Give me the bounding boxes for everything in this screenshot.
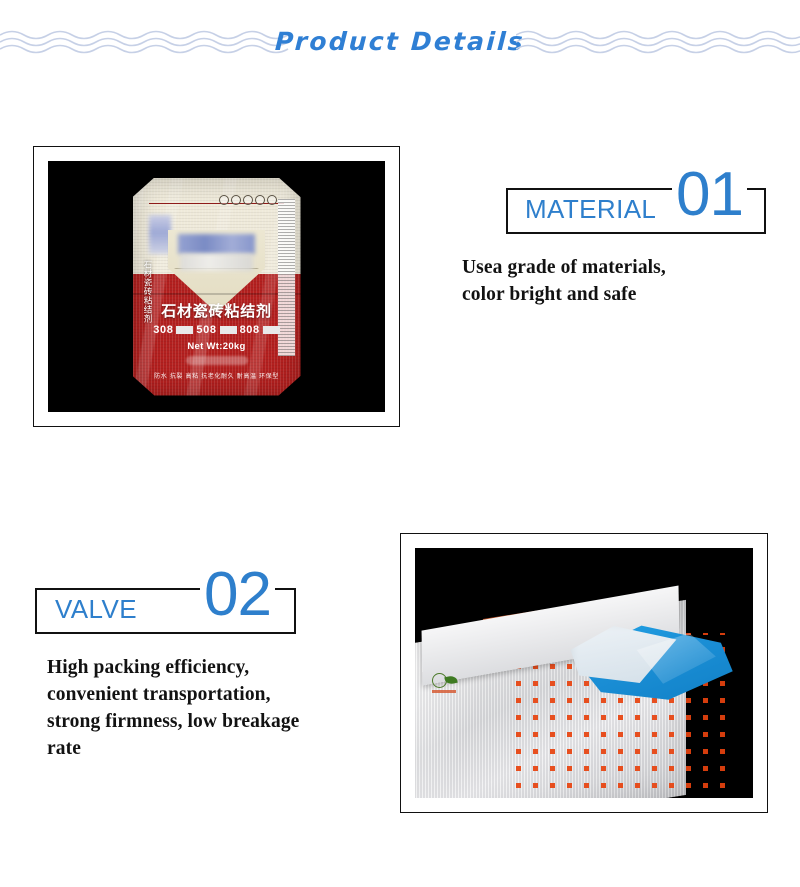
section-number-01: 01	[672, 164, 747, 226]
cert-icon-5	[267, 195, 277, 205]
section-label-material: MATERIAL	[525, 194, 656, 225]
bag-blurred-brand-text	[178, 234, 255, 254]
bag-feature-text: 防水 抗裂 高粘 抗老化耐久 耐高温 环保型	[133, 371, 301, 380]
bag-code-redaction-3	[263, 326, 280, 334]
section-description-material: Usea grade of materials, color bright an…	[462, 254, 782, 308]
bag-net-weight: Net Wt:20kg	[133, 341, 301, 352]
bag-code-808: 808	[240, 324, 260, 336]
product-photo-frame-valve	[400, 533, 768, 813]
logo-underline	[432, 690, 456, 693]
bag-front-label: 石材瓷砖粘结剂 308 508 808 Net Wt:20kg 防水 抗裂 高粘…	[133, 300, 301, 380]
product-photo-material: 石材瓷砖粘结剂 石材瓷砖粘结剂 308 508 808 Net Wt:20kg …	[48, 161, 385, 412]
product-photo-frame-material: 石材瓷砖粘结剂 石材瓷砖粘结剂 308 508 808 Net Wt:20kg …	[33, 146, 400, 427]
bag-horizontal-seam	[133, 293, 301, 295]
cert-icon-3	[243, 195, 253, 205]
cert-icon-4	[255, 195, 265, 205]
section-label-valve: VALVE	[55, 594, 137, 625]
bag-code-redaction-2	[220, 326, 237, 334]
description-line: High packing efficiency,	[47, 654, 399, 681]
adhesive-bag-illustration: 石材瓷砖粘结剂 石材瓷砖粘结剂 308 508 808 Net Wt:20kg …	[133, 178, 301, 396]
description-line: strong firmness, low breakage	[47, 708, 399, 735]
bag-blurred-badge	[186, 356, 248, 365]
bag-product-codes: 308 508 808	[133, 324, 301, 336]
page-header: Product Details	[0, 0, 800, 90]
product-photo-valve	[415, 548, 753, 798]
wave-decoration-right-icon	[516, 28, 800, 58]
bag-certification-icons	[219, 195, 277, 205]
section-description-valve: High packing efficiency, convenient tran…	[47, 654, 399, 762]
description-line: color bright and safe	[462, 281, 782, 308]
cert-icon-1	[219, 195, 229, 205]
bag-code-308: 308	[153, 324, 173, 336]
cert-icon-2	[231, 195, 241, 205]
valve-bag-recycle-logo-icon	[432, 673, 458, 695]
description-line: rate	[47, 735, 399, 762]
description-line: Usea grade of materials,	[462, 254, 782, 281]
bag-code-redaction-1	[176, 326, 193, 334]
bag-blurred-subtext	[180, 254, 254, 271]
section-number-02: 02	[200, 564, 275, 626]
description-line: convenient transportation,	[47, 681, 399, 708]
bag-product-name: 石材瓷砖粘结剂	[133, 300, 301, 321]
bag-code-508: 508	[196, 324, 216, 336]
